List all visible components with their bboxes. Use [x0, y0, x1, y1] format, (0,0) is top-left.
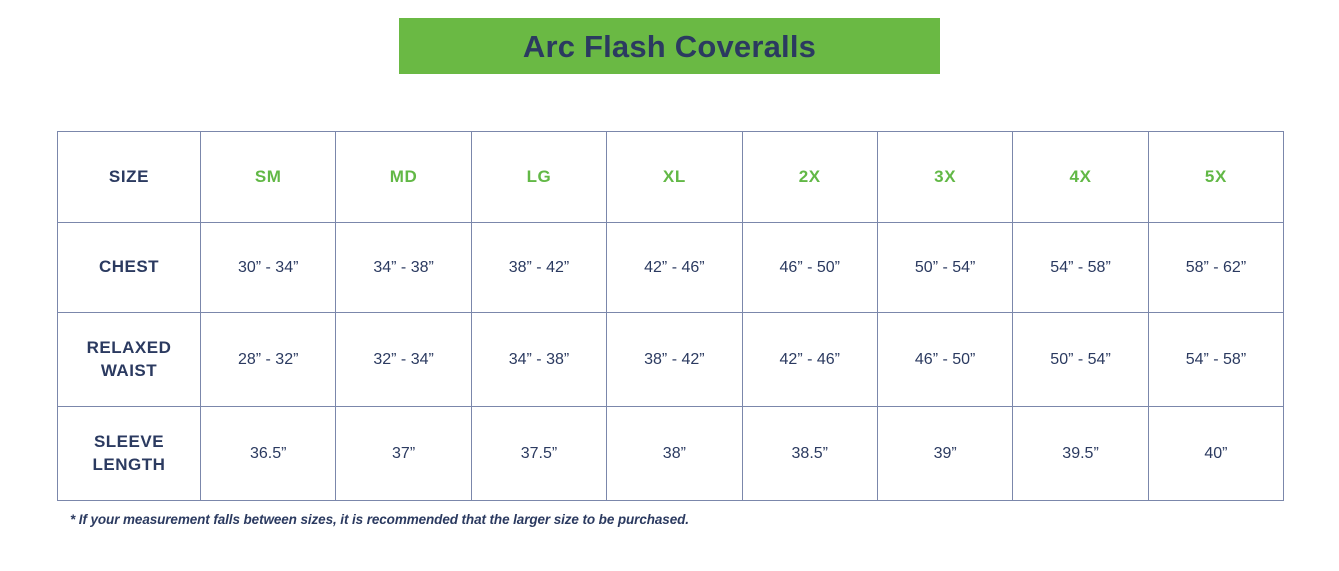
table-cell: 38” - 42” [471, 223, 606, 313]
size-chart-page: Arc Flash Coveralls SIZE SM MD [0, 0, 1339, 571]
table-cell: 32” - 34” [336, 313, 471, 407]
cell-value: 46” - 50” [780, 259, 840, 276]
row-label-text-line2: WAIST [101, 361, 157, 380]
table-cell: 42” - 46” [607, 223, 742, 313]
table-row: RELAXED WAIST 28” - 32” 32” - 34” 34” - … [58, 313, 1284, 407]
size-chart-table: SIZE SM MD LG XL 2X [57, 131, 1284, 501]
table-cell: 34” - 38” [336, 223, 471, 313]
cell-value: 50” - 54” [1050, 351, 1110, 368]
cell-value: 39” [934, 445, 957, 462]
cell-value: 38” - 42” [644, 351, 704, 368]
table-cell: 38.5” [742, 407, 877, 501]
table-cell: 38” - 42” [607, 313, 742, 407]
cell-value: 42” - 46” [644, 259, 704, 276]
title-banner-container: Arc Flash Coveralls [0, 18, 1339, 74]
cell-value: 50” - 54” [915, 259, 975, 276]
header-label-sm: SM [255, 167, 282, 186]
header-cell-5x: 5X [1148, 132, 1283, 223]
cell-value: 34” - 38” [509, 351, 569, 368]
table-cell: 34” - 38” [471, 313, 606, 407]
table-cell: 46” - 50” [742, 223, 877, 313]
table-cell: 30” - 34” [201, 223, 336, 313]
cell-value: 28” - 32” [238, 351, 298, 368]
table-row: SLEEVE LENGTH 36.5” 37” 37.5” 38” 38.5” … [58, 407, 1284, 501]
cell-value: 36.5” [250, 445, 286, 462]
row-label-text-line2: LENGTH [93, 455, 166, 474]
cell-value: 40” [1204, 445, 1227, 462]
cell-value: 54” - 58” [1050, 259, 1110, 276]
header-label-lg: LG [527, 167, 552, 186]
row-label-text: SLEEVE [94, 432, 164, 451]
row-label-chest: CHEST [58, 223, 201, 313]
page-title: Arc Flash Coveralls [523, 31, 816, 62]
table-cell: 54” - 58” [1148, 313, 1283, 407]
header-cell-xl: XL [607, 132, 742, 223]
table-cell: 42” - 46” [742, 313, 877, 407]
table-cell: 38” [607, 407, 742, 501]
header-label-3x: 3X [934, 167, 956, 186]
header-cell-3x: 3X [877, 132, 1012, 223]
cell-value: 46” - 50” [915, 351, 975, 368]
footnote: * If your measurement falls between size… [70, 512, 689, 527]
size-table-container: SIZE SM MD LG XL 2X [57, 131, 1283, 501]
header-cell-size: SIZE [58, 132, 201, 223]
table-row: CHEST 30” - 34” 34” - 38” 38” - 42” 42” … [58, 223, 1284, 313]
row-label-text: RELAXED [87, 338, 172, 357]
table-cell: 39” [877, 407, 1012, 501]
cell-value: 38” [663, 445, 686, 462]
table-cell: 54” - 58” [1013, 223, 1148, 313]
header-cell-md: MD [336, 132, 471, 223]
cell-value: 37” [392, 445, 415, 462]
cell-value: 38” - 42” [509, 259, 569, 276]
header-label-5x: 5X [1205, 167, 1227, 186]
header-cell-lg: LG [471, 132, 606, 223]
table-cell: 39.5” [1013, 407, 1148, 501]
cell-value: 37.5” [521, 445, 557, 462]
table-cell: 50” - 54” [1013, 313, 1148, 407]
table-cell: 58” - 62” [1148, 223, 1283, 313]
table-cell: 46” - 50” [877, 313, 1012, 407]
header-cell-2x: 2X [742, 132, 877, 223]
table-cell: 28” - 32” [201, 313, 336, 407]
title-banner: Arc Flash Coveralls [399, 18, 940, 74]
row-label-relaxed-waist: RELAXED WAIST [58, 313, 201, 407]
header-cell-4x: 4X [1013, 132, 1148, 223]
table-cell: 40” [1148, 407, 1283, 501]
cell-value: 34” - 38” [373, 259, 433, 276]
header-label-4x: 4X [1070, 167, 1092, 186]
table-cell: 37” [336, 407, 471, 501]
cell-value: 32” - 34” [373, 351, 433, 368]
row-label-text: CHEST [99, 257, 159, 276]
cell-value: 39.5” [1062, 445, 1098, 462]
header-label-size: SIZE [109, 167, 149, 186]
row-label-sleeve-length: SLEEVE LENGTH [58, 407, 201, 501]
header-label-2x: 2X [799, 167, 821, 186]
cell-value: 58” - 62” [1186, 259, 1246, 276]
table-cell: 36.5” [201, 407, 336, 501]
cell-value: 38.5” [792, 445, 828, 462]
table-header-row: SIZE SM MD LG XL 2X [58, 132, 1284, 223]
header-cell-sm: SM [201, 132, 336, 223]
header-label-xl: XL [663, 167, 686, 186]
cell-value: 42” - 46” [780, 351, 840, 368]
cell-value: 30” - 34” [238, 259, 298, 276]
table-cell: 37.5” [471, 407, 606, 501]
table-cell: 50” - 54” [877, 223, 1012, 313]
header-label-md: MD [390, 167, 418, 186]
cell-value: 54” - 58” [1186, 351, 1246, 368]
